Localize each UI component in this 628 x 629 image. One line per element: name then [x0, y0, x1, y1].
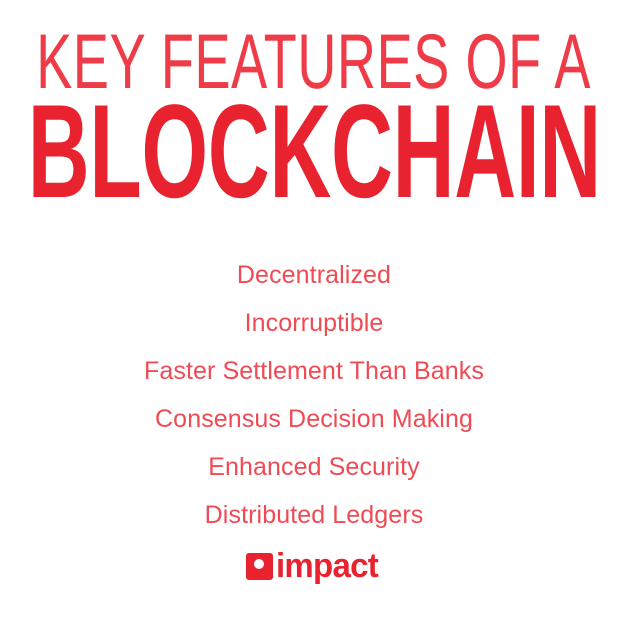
list-item: Decentralized [237, 251, 391, 299]
list-item: Faster Settlement Than Banks [144, 347, 484, 395]
impact-dot-shape [254, 559, 264, 569]
impact-wordmark: impact [276, 553, 378, 580]
feature-list: Decentralized Incorruptible Faster Settl… [0, 251, 628, 539]
headline-line-2: BLOCKCHAIN [27, 99, 600, 205]
list-item: Enhanced Security [208, 443, 420, 491]
blockchain-features-poster: KEY FEATURES OF A BLOCKCHAIN Decentraliz… [0, 0, 628, 629]
list-item: Distributed Ledgers [205, 491, 424, 539]
list-item: Incorruptible [245, 299, 384, 347]
impact-square-dot-icon [246, 553, 273, 580]
headline-block: KEY FEATURES OF A BLOCKCHAIN [0, 32, 628, 205]
impact-logo: impact [0, 553, 628, 580]
list-item: Consensus Decision Making [155, 395, 473, 443]
